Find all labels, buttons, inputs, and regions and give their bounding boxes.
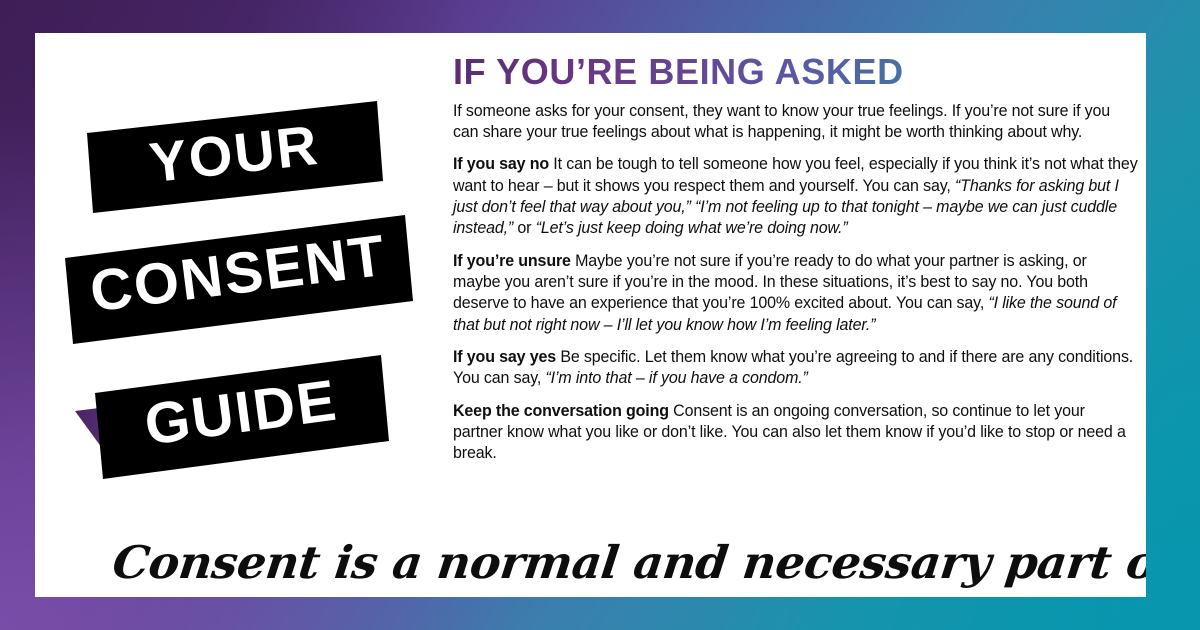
- article-column: IF YOU’RE BEING ASKED If someone asks fo…: [453, 53, 1146, 463]
- poster-canvas: YOUR CONSENT GUIDE IF YOU’RE BEING ASKED…: [0, 0, 1200, 630]
- paragraph-keep-the-conversation-going: Keep the conversation going Consent is a…: [453, 400, 1138, 464]
- paragraph-if-you-say-no: If you say no It can be tough to tell so…: [453, 153, 1138, 238]
- content-card: YOUR CONSENT GUIDE IF YOU’RE BEING ASKED…: [35, 33, 1146, 597]
- run-quote: “I’m into that – if you have a condom.”: [545, 368, 807, 387]
- run-lead-in: If you’re unsure: [453, 251, 571, 270]
- paragraph-if-youre-unsure: If you’re unsure Maybe you’re not sure i…: [453, 250, 1138, 335]
- paragraph-intro: If someone asks for your consent, they w…: [453, 100, 1138, 143]
- tagline-script: Consent is a normal and necessary part o…: [109, 528, 1138, 597]
- run-quote: “Let’s just keep doing what we’re doing …: [536, 218, 848, 237]
- run-lead-in: If you say yes: [453, 347, 556, 366]
- run-text: or: [513, 218, 536, 237]
- run-text: If someone asks for your consent, they w…: [453, 101, 1110, 141]
- ribbon-bar-your: YOUR: [87, 101, 383, 213]
- consent-guide-ribbon-logo: YOUR CONSENT GUIDE: [65, 93, 455, 493]
- page-title: IF YOU’RE BEING ASKED: [453, 53, 1146, 91]
- ribbon-bar-guide: GUIDE: [95, 355, 389, 479]
- paragraph-if-you-say-yes: If you say yes Be specific. Let them kno…: [453, 346, 1138, 389]
- run-lead-in: If you say no: [453, 154, 549, 173]
- run-lead-in: Keep the conversation going: [453, 401, 669, 420]
- ribbon-bar-consent: CONSENT: [65, 215, 413, 344]
